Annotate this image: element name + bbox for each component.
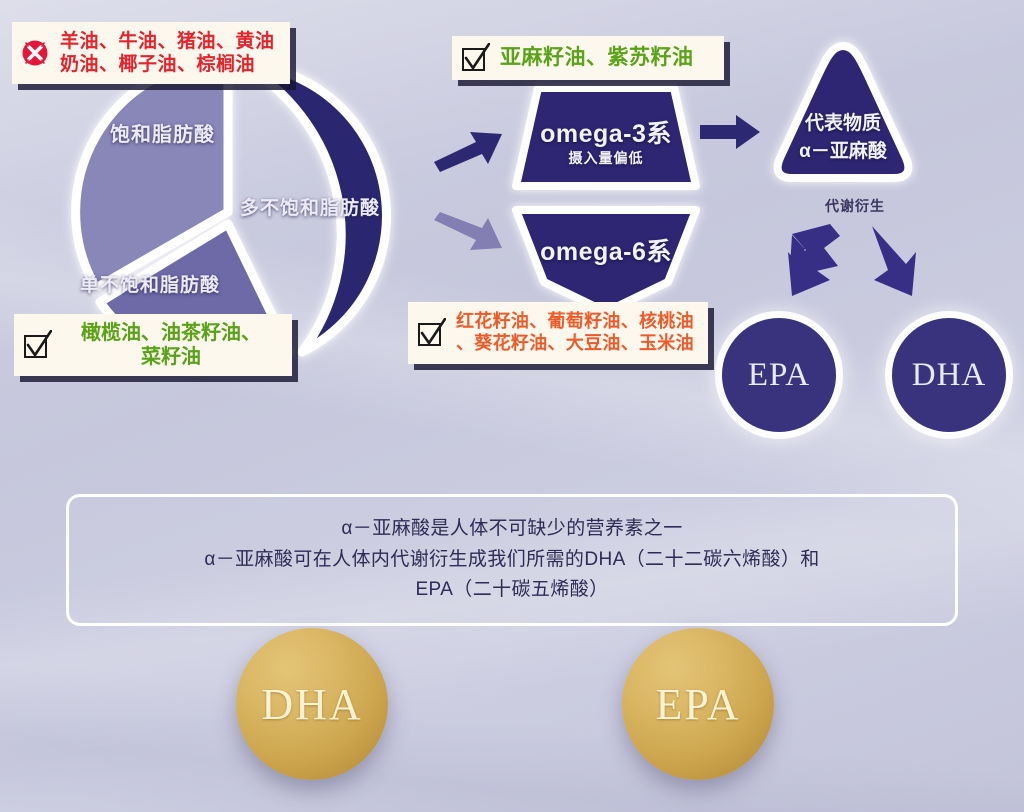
arrow-to-omega3 (432, 126, 506, 172)
checkbox-icon (416, 318, 446, 348)
pie-label-poly: 多不饱和脂肪酸 (240, 193, 380, 220)
omega3-shape: omega-3系 摄入量偏低 (508, 84, 704, 194)
callout-avoid-fats-text: 羊油、牛油、猪油、黄油 奶油、椰子油、棕榈油 (60, 30, 275, 76)
metabolism-label: 代谢衍生 (800, 196, 910, 216)
omega6-oils-line-1: 红花籽油、葡萄籽油、核桃油 (456, 311, 694, 331)
dha-gold-label: DHA (261, 679, 362, 730)
epa-circle-label: EPA (748, 357, 810, 394)
arrow-metabolize-left (786, 222, 842, 300)
avoid-line-1: 羊油、牛油、猪油、黄油 (60, 31, 275, 52)
infographic-canvas: 饱和脂肪酸 单不饱和脂肪酸 多不饱和脂肪酸 omega-3系 摄入量偏低 ome… (0, 0, 1024, 812)
arrow-to-omega6 (432, 212, 506, 260)
avoid-line-2: 奶油、椰子油、棕榈油 (60, 54, 255, 75)
olive-line-1: 橄榄油、油茶籽油、 (81, 322, 261, 344)
callout-monounsaturated-oils-text: 橄榄油、油茶籽油、 菜籽油 (62, 321, 280, 370)
checkbox-icon (460, 43, 490, 73)
representative-line2: α－亚麻酸 (766, 136, 920, 163)
summary-line-2: α－亚麻酸可在人体内代谢衍生成我们所需的DHA（二十二碳六烯酸）和 (204, 545, 819, 576)
dha-gold-sphere: DHA (236, 628, 388, 780)
epa-gold-label: EPA (655, 679, 740, 730)
pie-label-saturated: 饱和脂肪酸 (110, 118, 215, 147)
checkbox-icon (22, 330, 52, 360)
callout-monounsaturated-oils: 橄榄油、油茶籽油、 菜籽油 (14, 314, 292, 376)
callout-omega6-oils: 红花籽油、葡萄籽油、核桃油 、葵花籽油、大豆油、玉米油 (408, 302, 708, 364)
x-circle-icon (20, 38, 50, 68)
omega3-subtitle: 摄入量偏低 (508, 148, 704, 168)
arrow-metabolize-right (862, 222, 918, 300)
omega6-title: omega-6系 (508, 232, 704, 268)
representative-substance-shape: 代表物质 α－亚麻酸 (766, 42, 920, 182)
omega3-title: omega-3系 (508, 114, 704, 150)
olive-line-2: 菜籽油 (141, 346, 201, 368)
callout-omega3-oils: 亚麻籽油、紫苏籽油 (452, 36, 724, 80)
summary-line-1: α－亚麻酸是人体不可缺少的营养素之一 (341, 514, 682, 545)
epa-gold-sphere: EPA (622, 628, 774, 780)
dha-circle-label: DHA (912, 357, 987, 394)
callout-avoid-fats: 羊油、牛油、猪油、黄油 奶油、椰子油、棕榈油 (12, 22, 290, 84)
summary-line-3: EPA（二十碳五烯酸） (415, 575, 608, 606)
pie-label-mono: 单不饱和脂肪酸 (80, 270, 220, 297)
summary-panel: α－亚麻酸是人体不可缺少的营养素之一 α－亚麻酸可在人体内代谢衍生成我们所需的D… (66, 494, 958, 626)
callout-omega6-oils-text: 红花籽油、葡萄籽油、核桃油 、葵花籽油、大豆油、玉米油 (456, 311, 694, 355)
epa-circle: EPA (722, 318, 836, 432)
omega6-shape: omega-6系 (508, 206, 704, 316)
omega6-oils-line-2: 、葵花籽油、大豆油、玉米油 (456, 333, 694, 353)
representative-line1: 代表物质 (766, 108, 920, 135)
callout-omega3-oils-text: 亚麻籽油、紫苏籽油 (500, 45, 694, 71)
dha-circle: DHA (892, 318, 1006, 432)
arrow-to-representative (700, 114, 762, 150)
